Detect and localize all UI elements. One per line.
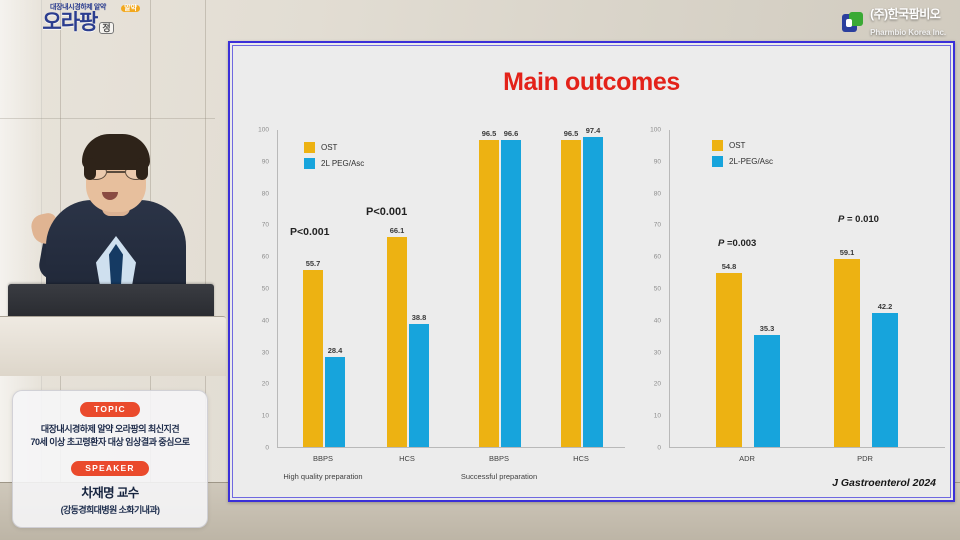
y-axis-tick: 70 [654,222,661,229]
bar-LPEGAsc-ADR-0: 35.3 [754,335,780,447]
y-axis-tick: 80 [654,190,661,197]
legend-label-peg: 2L-PEG/Asc [729,157,773,166]
legend-swatch-peg [712,156,723,167]
bar-LPEGAsc-HCS-3: 97.4 [583,137,603,447]
bar-value-label: 96.5 [564,129,579,138]
x-axis-label-hcs-3: HCS [573,454,589,463]
bar-LPEGAsc-BBPS-0: 28.4 [325,357,345,447]
group-label-0: High quality preparation [283,472,362,481]
y-axis-tick: 60 [262,254,269,261]
bar-value-label: 54.8 [722,262,737,271]
speaker-hair [82,134,150,170]
oraphang-logo-suffix: 정 [99,22,113,34]
left-chart-legend: OST 2L PEG/Asc [304,142,364,169]
bar-value-label: 38.8 [412,313,427,322]
topic-line-2: 70세 이상 초고령환자 대상 임상결과 중심으로 [13,436,207,449]
y-axis-tick: 50 [262,286,269,293]
right-chart: 0102030405060708090100 OST 2L-PEG/Asc 54… [631,114,951,497]
y-axis-tick: 60 [654,254,661,261]
bar-value-label: 96.5 [482,129,497,138]
y-axis-tick: 90 [262,158,269,165]
legend-label-ost: OST [321,143,337,152]
y-axis-tick: 30 [262,349,269,356]
pharmbio-name-kr: (주)한국팜비오 [870,7,940,21]
bar-value-label: 66.1 [390,226,405,235]
legend-swatch-ost [712,140,723,151]
bar-value-label: 42.2 [878,302,893,311]
p-value-annotation-1: P<0.001 [366,206,407,218]
y-axis-tick: 100 [258,127,269,134]
bar-value-label: 55.7 [306,259,321,268]
left-chart-plot: OST 2L PEG/Asc 55.728.466.138.896.596.69… [277,130,625,448]
bar-OST-ADR-0: 54.8 [716,273,742,447]
bar-value-label: 96.6 [504,129,519,138]
y-axis-tick: 10 [654,413,661,420]
bar-LPEGAsc-HCS-1: 38.8 [409,324,429,447]
speaker-video [0,46,228,376]
y-axis-tick: 30 [654,349,661,356]
x-axis-label-bbps-2: BBPS [489,454,509,463]
p-value-annotation-0: P =0.003 [718,238,756,249]
legend-label-peg: 2L PEG/Asc [321,159,364,168]
p-value-annotation-0: P<0.001 [290,226,329,238]
y-axis-tick: 100 [650,127,661,134]
bar-LPEGAsc-BBPS-2: 96.6 [501,140,521,447]
y-axis-tick: 70 [262,222,269,229]
y-axis-tick: 0 [657,445,661,452]
slide-title: Main outcomes [233,68,950,97]
y-axis-tick: 40 [262,317,269,324]
screen-root: 대장내시경하제 알약 오라팡정 알약 (주)한국팜비오 Pharmbio Kor… [0,0,960,540]
bar-OST-BBPS-2: 96.5 [479,140,499,447]
bar-LPEGAsc-PDR-1: 42.2 [872,313,898,447]
pharmbio-logo: (주)한국팜비오 Pharmbio Korea Inc. [842,8,946,38]
session-info-card: TOPIC 대장내시경하제 알약 오라팡의 최신지견 70세 이상 초고령환자 … [12,390,208,528]
x-axis-label-pdr-1: PDR [857,454,873,463]
podium [0,316,226,376]
y-axis-tick: 80 [262,190,269,197]
pharmbio-mark-icon [842,12,864,34]
oraphang-logo-subtitle: 대장내시경하제 알약 [24,4,132,11]
legend-label-ost: OST [729,141,745,150]
topic-text: 대장내시경하제 알약 오라팡의 최신지견 70세 이상 초고령환자 대상 임상결… [13,423,207,449]
group-label-1: Successful preparation [461,472,537,481]
right-chart-legend: OST 2L-PEG/Asc [712,140,773,167]
speaker-badge: SPEAKER [71,461,149,476]
speaker-affiliation: (강동경희대병원 소화기내과) [13,503,207,516]
left-chart-yaxis: 0102030405060708090100 [239,130,273,448]
bar-OST-HCS-1: 66.1 [387,237,407,447]
p-value-annotation-1: P = 0.010 [838,214,879,225]
y-axis-tick: 0 [265,445,269,452]
bar-OST-BBPS-0: 55.7 [303,270,323,447]
oraphang-logo-name: 오라팡 [42,12,97,33]
topic-badge: TOPIC [80,402,140,417]
presentation-slide: Main outcomes 0102030405060708090100 OST… [228,41,955,502]
y-axis-tick: 20 [654,381,661,388]
bar-value-label: 97.4 [586,126,601,135]
oraphang-logo: 대장내시경하제 알약 오라팡정 알약 [24,4,132,46]
bar-OST-HCS-3: 96.5 [561,140,581,447]
bar-OST-PDR-1: 59.1 [834,259,860,447]
bar-value-label: 28.4 [328,346,343,355]
x-axis-label-adr-0: ADR [739,454,755,463]
y-axis-tick: 10 [262,413,269,420]
slide-citation: J Gastroenterol 2024 [832,477,936,489]
y-axis-tick: 50 [654,286,661,293]
right-chart-plot: OST 2L-PEG/Asc 54.835.359.142.2P =0.003P… [669,130,945,448]
oraphang-logo-tag: 알약 [121,5,140,12]
pharmbio-name-en: Pharmbio Korea Inc. [870,28,946,37]
legend-swatch-ost [304,142,315,153]
left-chart: 0102030405060708090100 OST 2L PEG/Asc 55… [239,114,631,497]
x-axis-label-bbps-0: BBPS [313,454,333,463]
bar-value-label: 35.3 [760,324,775,333]
charts-area: 0102030405060708090100 OST 2L PEG/Asc 55… [233,114,950,497]
right-chart-yaxis: 0102030405060708090100 [631,130,665,448]
y-axis-tick: 90 [654,158,661,165]
legend-swatch-peg [304,158,315,169]
bar-value-label: 59.1 [840,248,855,257]
speaker-name: 차재명 교수 [13,482,207,501]
x-axis-label-hcs-1: HCS [399,454,415,463]
y-axis-tick: 20 [262,381,269,388]
y-axis-tick: 40 [654,317,661,324]
topic-line-1: 대장내시경하제 알약 오라팡의 최신지견 [13,423,207,436]
